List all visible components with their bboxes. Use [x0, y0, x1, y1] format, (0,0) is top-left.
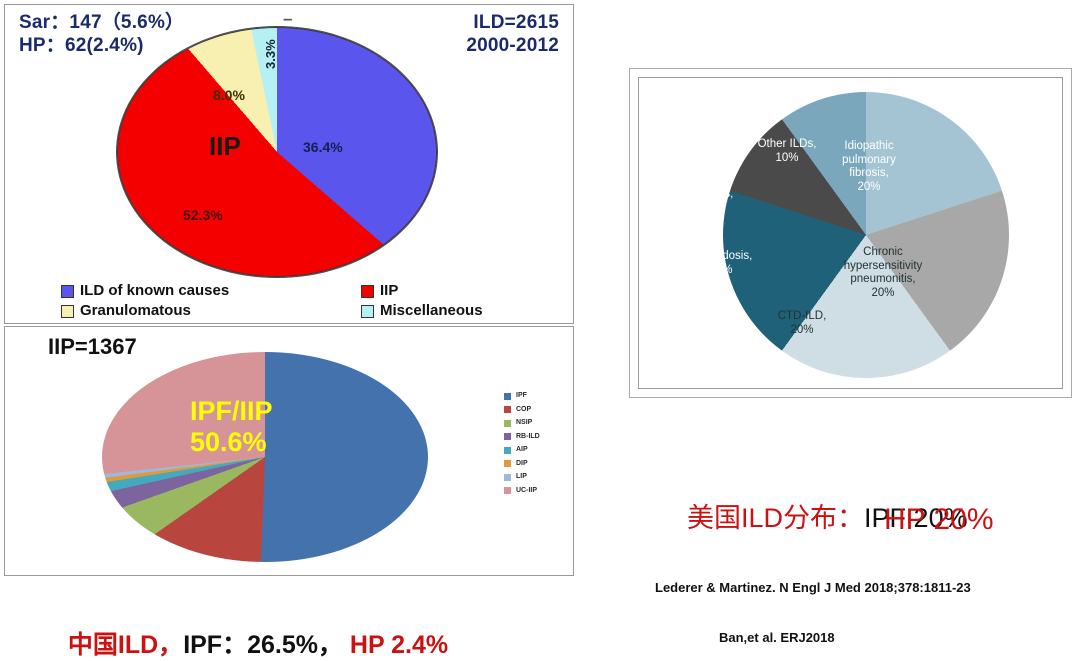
- legend-label: COP: [516, 406, 531, 414]
- legend-label: LIP: [516, 473, 527, 481]
- legend-item-known-causes: ILD of known causes: [61, 282, 361, 300]
- legend-item-cop: COP: [504, 406, 540, 414]
- pie-label-chp: Chronic hypersensitivity pneumonitis, 20…: [825, 246, 941, 300]
- legend-label: Granulomatous: [80, 302, 191, 320]
- legend-swatch-icon: [61, 285, 74, 298]
- legend-swatch-icon: [504, 393, 511, 400]
- caption-hp-part: HP 2.4%: [350, 631, 448, 659]
- legend-label: DIP: [516, 460, 528, 468]
- caption-ipf-part: IPF：26.5%，: [183, 631, 343, 659]
- bottom-chart-legend: IPF COP NSIP RB-ILD AIP DIP LIP UC-IIP: [504, 392, 540, 495]
- legend-item-uc-iip: UC-IIP: [504, 487, 540, 495]
- ipf-iip-center-label: IPF/IIP 50.6%: [190, 396, 273, 458]
- legend-swatch-icon: [504, 433, 511, 440]
- us-ild-summary-hp: HP 20%: [884, 503, 994, 537]
- top-chart-legend: ILD of known causes IIP Granulomatous Mi…: [61, 282, 531, 320]
- us-ild-chart-frame: Idiopathic pulmonary fibrosis, 20% Chron…: [629, 68, 1072, 398]
- slice-label-granulomatous: 8.0%: [213, 87, 245, 103]
- legend-label: IPF: [516, 392, 527, 400]
- slice-label-known-causes: 36.4%: [303, 139, 343, 155]
- ild-total-note: ILD=2615 2000-2012: [466, 11, 559, 57]
- legend-swatch-icon: [361, 305, 374, 318]
- reference-lederer: Lederer & Martinez. N Engl J Med 2018;37…: [655, 580, 971, 595]
- tick-mark: –: [283, 9, 292, 29]
- pie-label-ipf: Idiopathic pulmonary fibrosis, 20%: [821, 140, 917, 194]
- legend-item-aip: AIP: [504, 446, 540, 454]
- pie-label-sarcoidosis: Sarcoidosis, 20%: [671, 250, 771, 277]
- legend-swatch-icon: [504, 406, 511, 413]
- pie-label-pneumoconioses: Pneumo- conioses, 10%: [669, 174, 749, 215]
- left-charts-panel: Sar：147（5.6%） HP：62(2.4%) – ILD=2615 200…: [4, 4, 574, 576]
- china-ild-caption: 中国ILD，IPF：26.5%， HP 2.4%: [54, 596, 448, 661]
- legend-label: ILD of known causes: [80, 282, 229, 300]
- legend-swatch-icon: [504, 420, 511, 427]
- legend-label: NSIP: [516, 419, 532, 427]
- legend-swatch-icon: [504, 447, 511, 454]
- slice-label-iip: 52.3%: [183, 207, 223, 223]
- legend-label: UC-IIP: [516, 487, 537, 495]
- slice-label-miscellaneous: 3.3%: [263, 39, 278, 69]
- reference-ban: Ban,et al. ERJ2018: [719, 630, 835, 645]
- legend-item-ipf: IPF: [504, 392, 540, 400]
- us-ild-chart-inner-frame: Idiopathic pulmonary fibrosis, 20% Chron…: [638, 77, 1063, 389]
- ild-distribution-chart: Sar：147（5.6%） HP：62(2.4%) – ILD=2615 200…: [4, 4, 574, 324]
- legend-swatch-icon: [504, 460, 511, 467]
- legend-item-iip: IIP: [361, 282, 531, 300]
- legend-swatch-icon: [504, 474, 511, 481]
- legend-label: RB-ILD: [516, 433, 540, 441]
- legend-item-nsip: NSIP: [504, 419, 540, 427]
- us-ild-summary-prefix: 美国ILD分布：: [687, 503, 864, 533]
- legend-swatch-icon: [361, 285, 374, 298]
- legend-swatch-icon: [504, 487, 511, 494]
- legend-item-granulomatous: Granulomatous: [61, 302, 361, 320]
- pie-label-ctd-ild: CTD-ILD, 20%: [757, 310, 847, 337]
- caption-cn-part: 中国ILD，: [68, 631, 183, 659]
- legend-label: IIP: [380, 282, 398, 300]
- legend-swatch-icon: [61, 305, 74, 318]
- legend-item-dip: DIP: [504, 460, 540, 468]
- iip-center-text: IIP: [209, 131, 241, 162]
- legend-item-miscellaneous: Miscellaneous: [361, 302, 531, 320]
- legend-label: AIP: [516, 446, 528, 454]
- pie-label-other-ilds: Other ILDs, 10%: [747, 138, 827, 165]
- legend-label: Miscellaneous: [380, 302, 483, 320]
- legend-item-lip: LIP: [504, 473, 540, 481]
- legend-item-rb-ild: RB-ILD: [504, 433, 540, 441]
- top-pie-chart: 36.4% 52.3% 8.0% 3.3% IIP: [117, 27, 437, 277]
